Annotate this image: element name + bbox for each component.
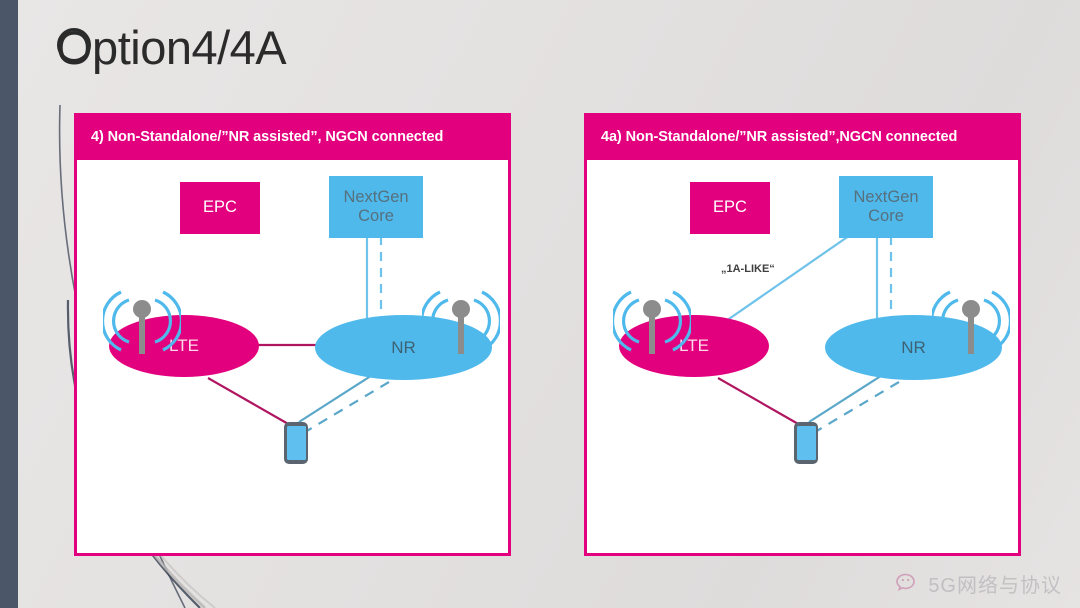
nextgen-core-node: NextGen Core	[329, 176, 423, 238]
nextgen-core-node: NextGen Core	[839, 176, 933, 238]
left-accent-bar	[0, 0, 18, 608]
page-title: Option4/4A	[56, 20, 286, 75]
panel-header-title: 4) Non-Standalone/”NR assisted”, NGCN co…	[77, 116, 508, 160]
panel-diagram: EPC NextGen Core „1A-LIKE“ LTE NR	[587, 160, 1018, 520]
watermark: 5G网络与协议	[895, 569, 1062, 598]
wechat-logo-icon	[895, 571, 921, 597]
option-4a-panel: 4a) Non-Standalone/”NR assisted”,NGCN co…	[584, 113, 1021, 556]
epc-node: EPC	[690, 182, 770, 234]
ue-handset-icon	[794, 422, 818, 464]
nextgen-core-label-line1: NextGen	[853, 188, 918, 207]
handset-screen	[797, 426, 816, 460]
option-4-panel: 4) Non-Standalone/”NR assisted”, NGCN co…	[74, 113, 511, 556]
lte-antenna-icon	[613, 286, 691, 356]
nr-label: NR	[901, 338, 926, 358]
ue-handset-icon	[284, 422, 308, 464]
nextgen-core-label-line2: Core	[358, 207, 394, 226]
epc-node: EPC	[180, 182, 260, 234]
nextgen-core-label-line2: Core	[868, 207, 904, 226]
one-a-like-annotation: „1A-LIKE“	[721, 263, 775, 275]
lte-antenna-icon	[103, 286, 181, 356]
nr-antenna-icon	[932, 286, 1010, 356]
epc-label: EPC	[713, 198, 747, 217]
nextgen-core-label-line1: NextGen	[343, 188, 408, 207]
panel-diagram: EPC NextGen Core LTE NR	[77, 160, 508, 520]
panel-header-title: 4a) Non-Standalone/”NR assisted”,NGCN co…	[587, 116, 1018, 160]
handset-screen	[287, 426, 306, 460]
nr-label: NR	[391, 338, 416, 358]
nr-antenna-icon	[422, 286, 500, 356]
epc-label: EPC	[203, 198, 237, 217]
watermark-text: 5G网络与协议	[928, 569, 1062, 598]
